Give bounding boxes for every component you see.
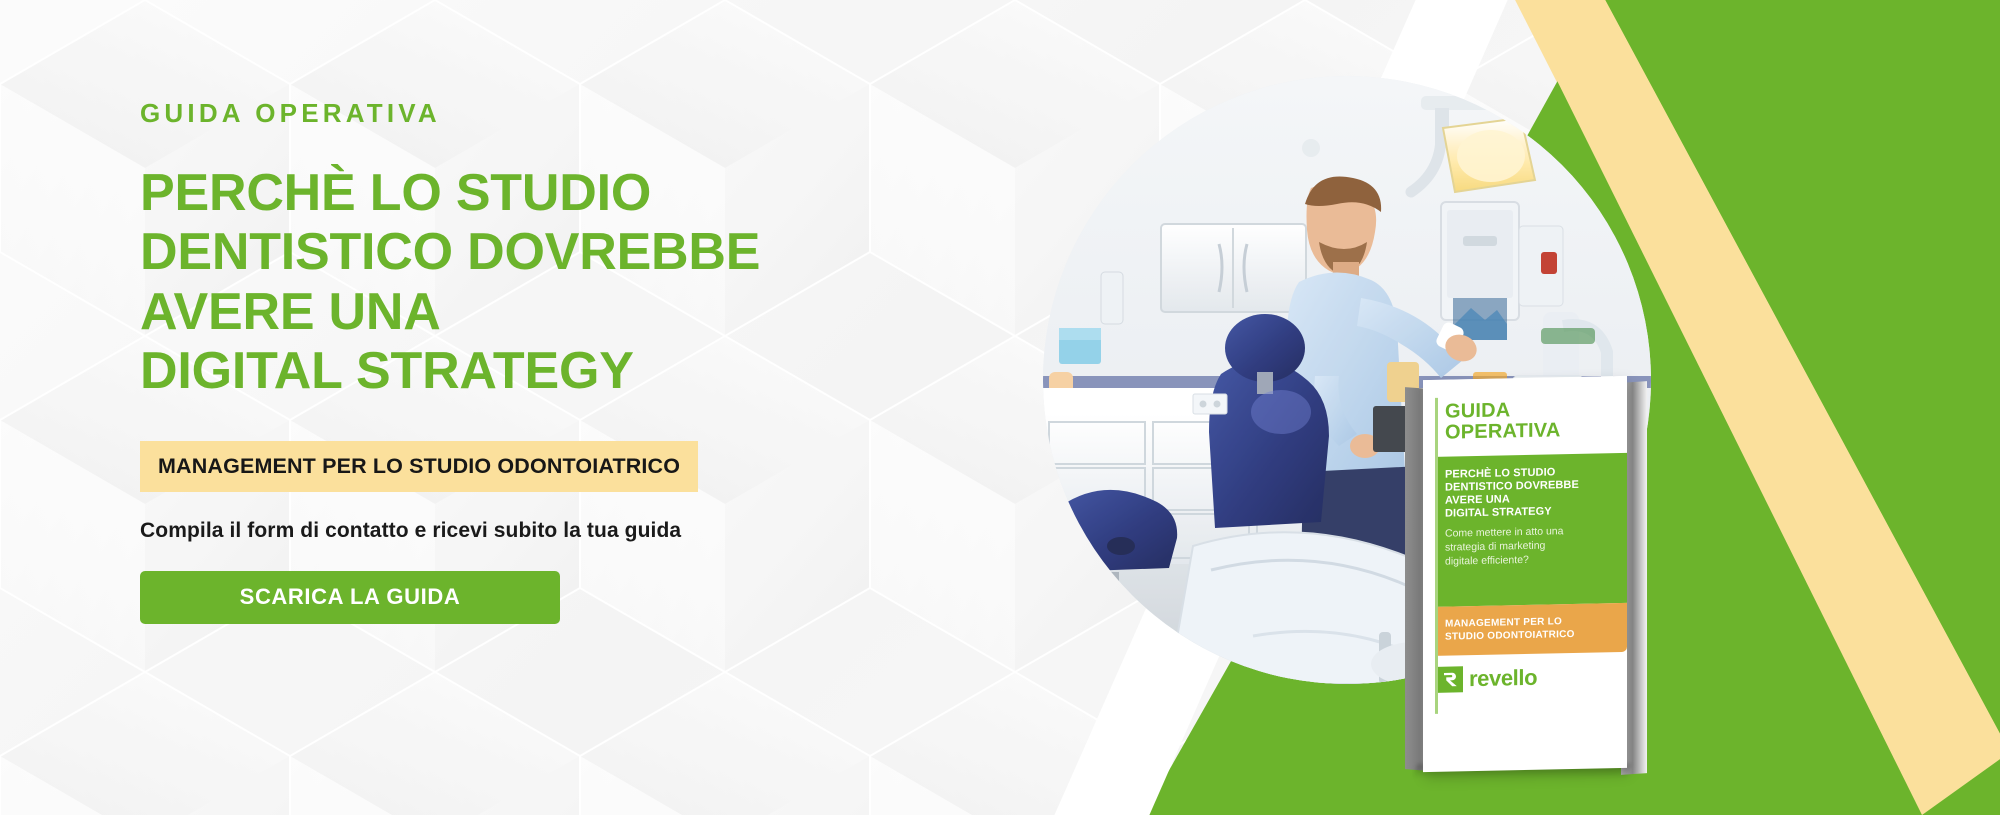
book-cover: GUIDA OPERATIVA PERCHÈ LO STUDIO DENTIST… bbox=[1423, 376, 1627, 772]
download-guide-button[interactable]: SCARICA LA GUIDA bbox=[140, 571, 560, 624]
cover-header: GUIDA OPERATIVA bbox=[1423, 376, 1627, 457]
cover-accent-line bbox=[1435, 398, 1438, 714]
cover-orange-panel: MANAGEMENT PER LO STUDIO ODONTOIATRICO bbox=[1435, 603, 1627, 656]
revello-r-icon bbox=[1437, 666, 1463, 693]
page-title: PERCHÈ LO STUDIO DENTISTICO DOVREBBE AVE… bbox=[140, 164, 900, 401]
eyebrow-label: GUIDA OPERATIVA bbox=[140, 100, 900, 126]
promo-banner: GUIDA OPERATIVA PERCHÈ LO STUDIO DENTIST… bbox=[0, 0, 2000, 815]
cover-footer-text: MANAGEMENT PER LO STUDIO ODONTOIATRICO bbox=[1445, 614, 1617, 644]
revello-wordmark: revello bbox=[1469, 667, 1537, 690]
cover-brand-label: GUIDA OPERATIVA bbox=[1445, 398, 1615, 443]
cover-title: PERCHÈ LO STUDIO DENTISTICO DOVREBBE AVE… bbox=[1445, 465, 1615, 520]
cover-subtitle: Come mettere in atto una strategia di ma… bbox=[1445, 523, 1615, 569]
highlight-badge: MANAGEMENT PER LO STUDIO ODONTOIATRICO bbox=[140, 441, 698, 492]
revello-mark-glyph bbox=[1441, 671, 1459, 689]
highlight-row: MANAGEMENT PER LO STUDIO ODONTOIATRICO bbox=[140, 441, 900, 492]
subcopy-text: Compila il form di contatto e ricevi sub… bbox=[140, 520, 900, 541]
revello-logo: revello bbox=[1423, 652, 1627, 693]
ebook-mockup: GUIDA OPERATIVA PERCHÈ LO STUDIO DENTIST… bbox=[1405, 378, 1650, 778]
cover-green-panel: PERCHÈ LO STUDIO DENTISTICO DOVREBBE AVE… bbox=[1435, 453, 1627, 607]
copy-block: GUIDA OPERATIVA PERCHÈ LO STUDIO DENTIST… bbox=[140, 100, 900, 624]
